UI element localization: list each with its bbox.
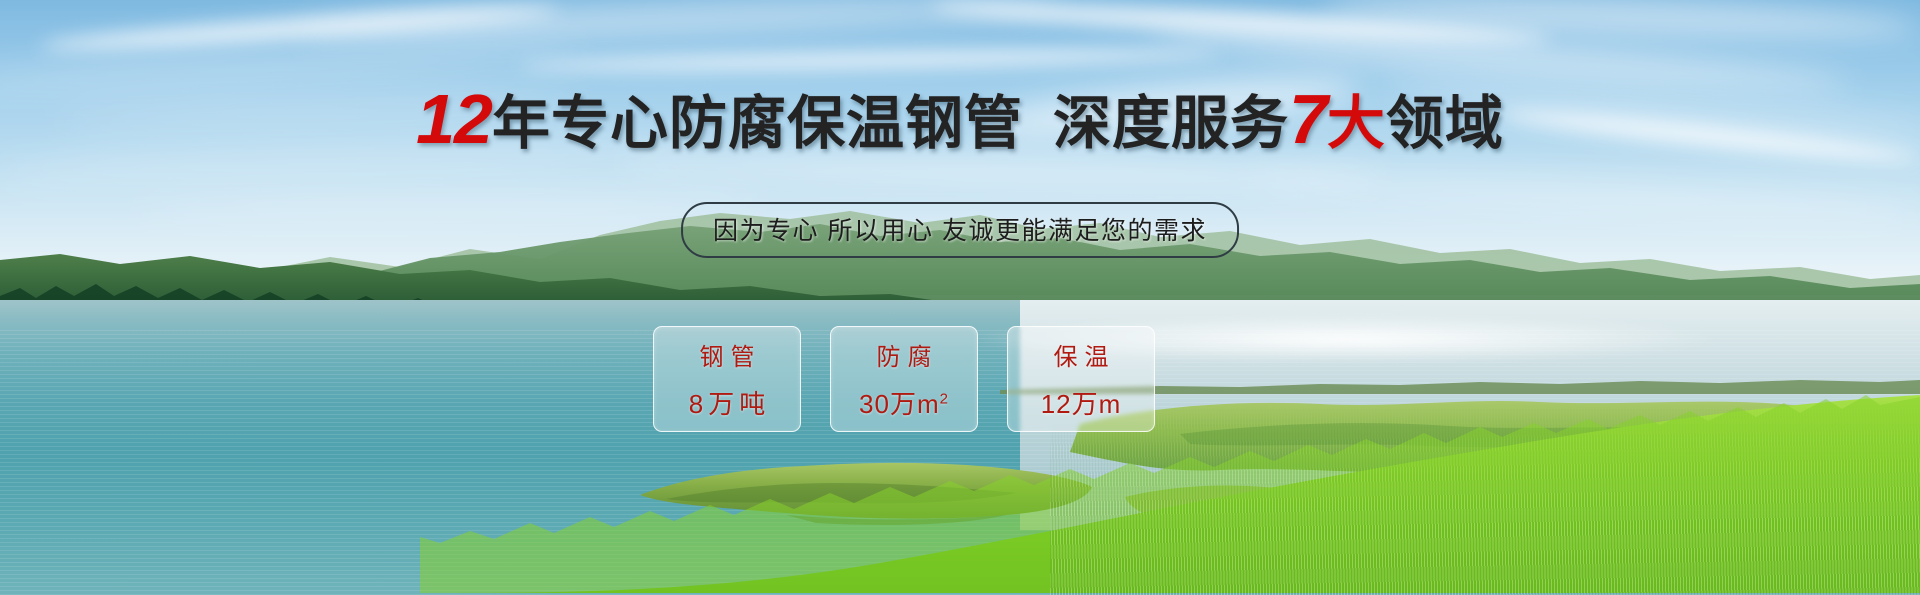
stat-card-label: 防腐 [870,337,939,372]
stat-card-label: 钢管 [693,337,762,372]
headline-red-word: 大 [1327,91,1386,156]
stat-card-value: 12万m [1041,384,1122,421]
stat-card-value: 30万m2 [859,384,949,421]
stat-value-superscript: 2 [940,390,949,407]
stat-card-insulation[interactable]: 保温 12万m [1007,326,1155,432]
headline-number-12: 12 [416,80,492,158]
hero-banner: 12年专心防腐保温钢管深度服务7大领域 因为专心 所以用心 友诚更能满足您的需求… [0,0,1920,595]
stat-card-label: 保温 [1047,337,1116,372]
banner-subtitle-pill: 因为专心 所以用心 友诚更能满足您的需求 [681,202,1239,258]
banner-headline: 12年专心防腐保温钢管深度服务7大领域 [0,84,1920,154]
stat-value-main: 8万吨 [689,389,770,419]
stat-value-main: 30万m [859,389,940,419]
headline-number-7: 7 [1289,80,1327,158]
stat-card-steel-pipe[interactable]: 钢管 8万吨 [653,326,801,432]
headline-text-part3: 领域 [1386,91,1504,156]
headline-text-part1: 年专心防腐保温钢管 [492,91,1023,156]
grass-blade-texture [1050,405,1920,595]
stat-card-value: 8万吨 [684,384,770,421]
stat-value-main: 12万m [1041,389,1122,419]
stat-cards-group: 钢管 8万吨 防腐 30万m2 保温 12万m [653,326,1155,432]
headline-text-part2: 深度服务 [1053,91,1289,156]
subtitle-text: 因为专心 所以用心 友诚更能满足您的需求 [713,217,1207,245]
stat-card-anticorrosion[interactable]: 防腐 30万m2 [830,326,978,432]
